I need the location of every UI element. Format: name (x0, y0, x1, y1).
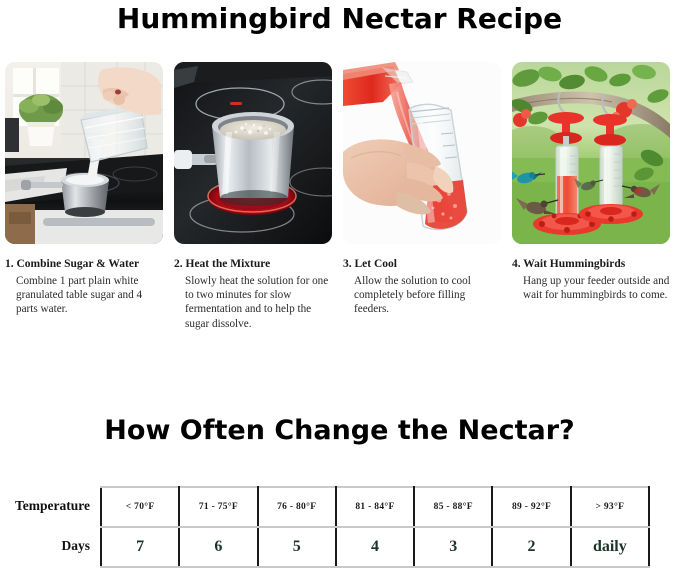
recipe-step: 4. Wait Hummingbirds Hang up your feeder… (512, 62, 670, 331)
recipe-step: 1. Combine Sugar & Water Combine 1 part … (5, 62, 163, 331)
days-cell: 6 (179, 527, 257, 567)
step-caption: 4. Wait Hummingbirds Hang up your feeder… (512, 258, 670, 302)
temperature-days-table: < 70°F 71 - 75°F 76 - 80°F 81 - 84°F 85 … (100, 486, 650, 568)
temperature-cell: 81 - 84°F (336, 487, 414, 527)
nectar-change-schedule: Temperature Days < 70°F 71 - 75°F 76 - 8… (0, 486, 679, 568)
table-row-temperature: < 70°F 71 - 75°F 76 - 80°F 81 - 84°F 85 … (101, 487, 649, 527)
step-heading: 2. Heat the Mixture (174, 258, 332, 271)
temperature-cell: 71 - 75°F (179, 487, 257, 527)
step-caption: 3. Let Cool Allow the solution to cool c… (343, 258, 501, 317)
step-3-thumbnail (343, 62, 501, 244)
days-cell: 4 (336, 527, 414, 567)
step-2-thumbnail (174, 62, 332, 244)
days-cell: 3 (414, 527, 492, 567)
temperature-cell: 85 - 88°F (414, 487, 492, 527)
section-title: How Often Change the Nectar? (0, 415, 679, 446)
step-heading: 3. Let Cool (343, 258, 501, 271)
table-row-labels: Temperature Days (0, 486, 100, 568)
step-description: Hang up your feeder outside and wait for… (512, 274, 670, 302)
days-cell: daily (571, 527, 649, 567)
days-cell: 2 (492, 527, 570, 567)
step-heading: 4. Wait Hummingbirds (512, 258, 670, 271)
temperature-cell: < 70°F (101, 487, 179, 527)
table-row-days: 7 6 5 4 3 2 daily (101, 527, 649, 567)
temperature-cell: 89 - 92°F (492, 487, 570, 527)
step-description: Combine 1 part plain white granulated ta… (5, 274, 163, 317)
hummingbird-feeders-on-branch-photo (512, 62, 670, 244)
row-label-temperature: Temperature (0, 486, 100, 526)
saucepan-on-hot-burner-photo (174, 62, 332, 244)
recipe-step: 3. Let Cool Allow the solution to cool c… (343, 62, 501, 331)
days-cell: 5 (258, 527, 336, 567)
row-label-days: Days (0, 526, 100, 566)
step-caption: 2. Heat the Mixture Slowly heat the solu… (174, 258, 332, 331)
pouring-sugar-into-saucepan-photo (5, 62, 163, 244)
step-heading: 1. Combine Sugar & Water (5, 258, 163, 271)
recipe-step: 2. Heat the Mixture Slowly heat the solu… (174, 62, 332, 331)
step-description: Allow the solution to cool completely be… (343, 274, 501, 317)
step-4-thumbnail (512, 62, 670, 244)
step-description: Slowly heat the solution for one to two … (174, 274, 332, 331)
temperature-cell: 76 - 80°F (258, 487, 336, 527)
step-caption: 1. Combine Sugar & Water Combine 1 part … (5, 258, 163, 317)
temperature-cell: > 93°F (571, 487, 649, 527)
page-title: Hummingbird Nectar Recipe (0, 2, 679, 35)
days-cell: 7 (101, 527, 179, 567)
pouring-nectar-into-bottle-photo (343, 62, 501, 244)
step-1-thumbnail (5, 62, 163, 244)
recipe-steps: 1. Combine Sugar & Water Combine 1 part … (5, 62, 675, 331)
